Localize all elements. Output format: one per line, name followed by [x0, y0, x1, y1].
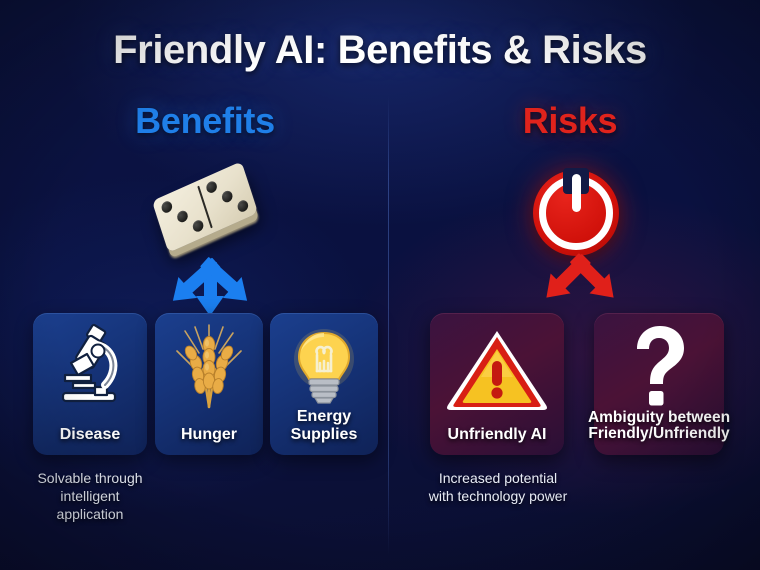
card-energy-supplies[interactable]: Energy Supplies	[270, 313, 378, 455]
domino-tile	[152, 161, 258, 253]
caption-line: with technology power	[429, 488, 568, 504]
domino-pip	[236, 199, 249, 214]
lightbulb-icon	[270, 329, 378, 403]
card-unfriendly-ai[interactable]: Unfriendly AI	[430, 313, 564, 455]
question-mark-icon	[594, 325, 724, 407]
caption-line: intelligent	[60, 488, 119, 504]
warning-triangle-icon	[430, 327, 564, 409]
caption-line: Solvable through	[37, 470, 142, 486]
section-divider	[388, 96, 389, 556]
wheat-icon	[155, 323, 263, 411]
card-label-line: Ambiguity between	[588, 409, 730, 426]
caption-line: application	[57, 506, 124, 522]
card-label-ambiguity: Ambiguity between Friendly/Unfriendly	[566, 410, 752, 443]
domino-pip	[160, 200, 173, 215]
domino-pip	[191, 218, 204, 233]
caption-line: Increased potential	[439, 470, 557, 486]
microscope-icon	[33, 323, 147, 411]
caption-risks: Increased potential with technology powe…	[420, 470, 576, 506]
power-button-icon	[533, 170, 619, 256]
power-bar	[572, 174, 581, 212]
section-heading-benefits: Benefits	[30, 100, 380, 142]
card-disease[interactable]: Disease	[33, 313, 147, 455]
card-label-unfriendly-ai: Unfriendly AI	[416, 426, 578, 443]
page-title: Friendly AI: Benefits & Risks	[0, 28, 760, 73]
domino-pip	[176, 209, 189, 224]
card-label-energy-supplies: Energy Supplies	[256, 408, 392, 443]
section-heading-risks: Risks	[400, 100, 740, 142]
card-ambiguity[interactable]: Ambiguity between Friendly/Unfriendly	[594, 313, 724, 455]
card-label-line: Supplies	[291, 426, 358, 443]
card-label-disease: Disease	[19, 426, 161, 443]
card-hunger[interactable]: Hunger	[155, 313, 263, 455]
domino-pip	[205, 180, 218, 195]
domino-icon	[148, 172, 268, 252]
card-label-line: Friendly/Unfriendly	[588, 425, 729, 442]
infographic-canvas: Friendly AI: Benefits & Risks Benefits R…	[0, 0, 760, 570]
card-label-line: Energy	[297, 408, 351, 425]
caption-benefits: Solvable through intelligent application	[20, 470, 160, 524]
domino-pip	[220, 189, 233, 204]
